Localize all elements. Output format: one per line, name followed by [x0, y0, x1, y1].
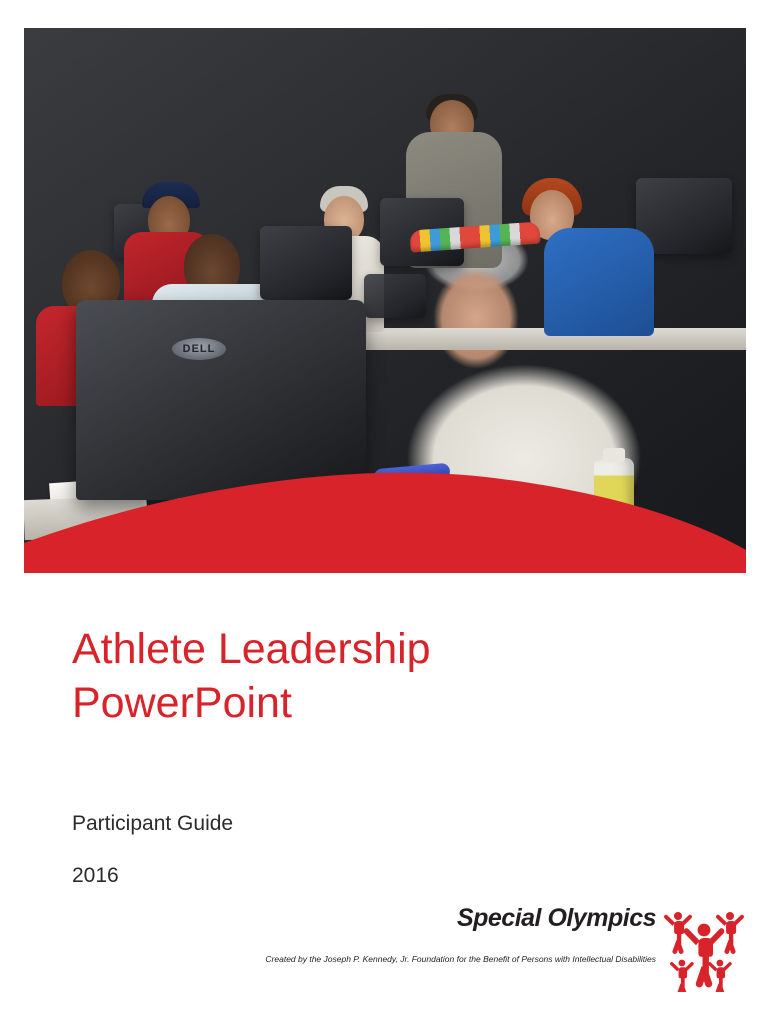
title-line-2: PowerPoint — [72, 676, 672, 730]
monitor-background-small — [364, 274, 426, 318]
brand-block: Special Olympics Created by the Joseph P… — [404, 896, 744, 1006]
foreground-monitor: DELL — [76, 300, 366, 500]
water-bottle — [594, 458, 634, 568]
document-subtitle: Participant Guide — [72, 810, 233, 838]
dell-logo: DELL — [172, 338, 226, 360]
page-title: Athlete Leadership PowerPoint — [72, 622, 672, 730]
brand-tagline: Created by the Joseph P. Kennedy, Jr. Fo… — [265, 954, 656, 964]
special-olympics-logo-icon — [664, 896, 744, 992]
desk-middle — [324, 328, 746, 350]
title-line-1: Athlete Leadership — [72, 622, 672, 676]
document-year: 2016 — [72, 862, 119, 890]
desk-front — [24, 496, 145, 540]
monitor-base — [132, 544, 300, 566]
person-blue-shirt-body — [544, 228, 654, 336]
special-olympics-wordmark: Special Olympics — [457, 904, 656, 933]
monitor-background-center — [260, 226, 352, 300]
cover-page: DELL Athlete Leadership PowerPoint Parti… — [0, 0, 770, 1024]
polo-logo-patch — [510, 386, 556, 434]
cover-photo: DELL — [24, 28, 746, 573]
